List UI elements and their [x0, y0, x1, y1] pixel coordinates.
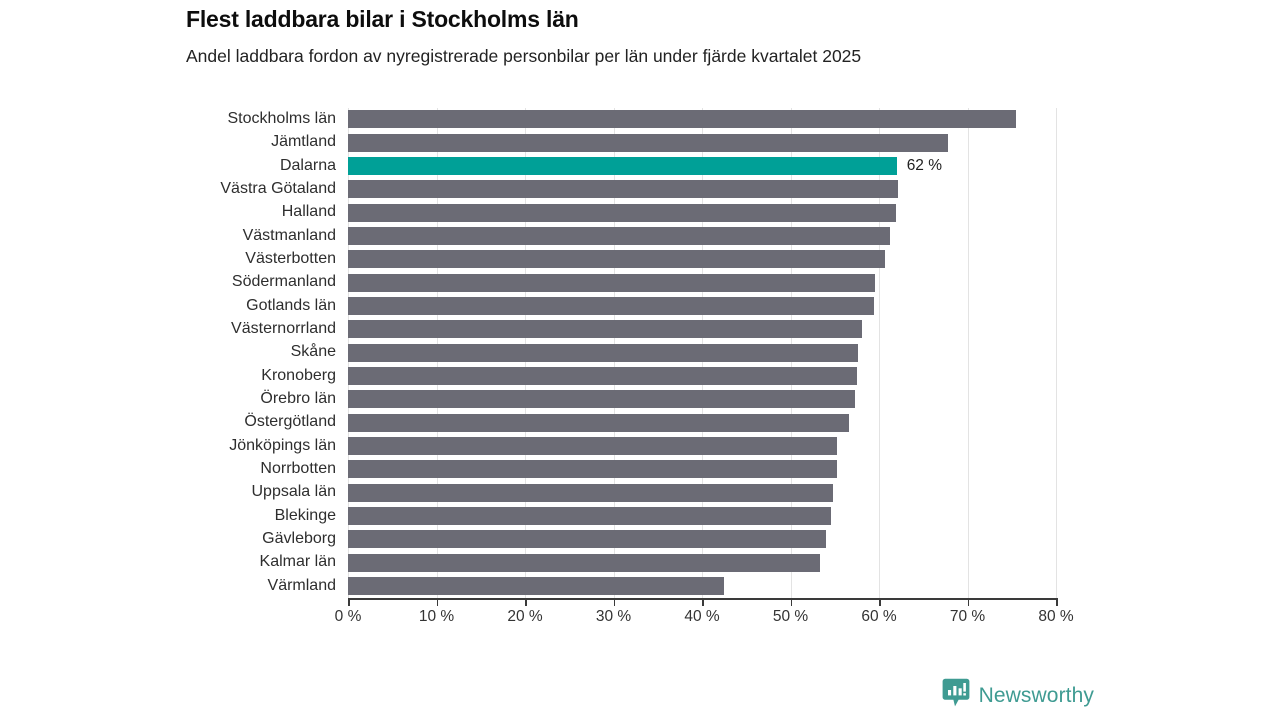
x-axis-tick-mark — [614, 598, 616, 606]
bar-value-label: 62 % — [907, 157, 942, 175]
y-axis-label: Västernorrland — [231, 318, 336, 341]
bar[interactable] — [348, 134, 948, 152]
bar-row[interactable] — [348, 131, 1056, 154]
bar[interactable] — [348, 227, 890, 245]
chart-header: Flest laddbara bilar i Stockholms län An… — [186, 6, 1186, 67]
newsworthy-bar-chart-bubble-icon — [942, 678, 970, 713]
bar-row[interactable] — [348, 108, 1056, 131]
y-axis-label: Gotlands län — [246, 295, 336, 318]
x-axis-tick-label: 10 % — [419, 608, 454, 626]
x-axis-tick-mark — [702, 598, 704, 606]
y-axis-label: Halland — [282, 201, 336, 224]
y-axis-label: Dalarna — [280, 155, 336, 178]
bar[interactable] — [348, 180, 898, 198]
bar[interactable] — [348, 320, 862, 338]
bar-row[interactable] — [348, 411, 1056, 434]
bar[interactable] — [348, 110, 1016, 128]
y-axis-label: Blekinge — [275, 505, 336, 528]
y-axis-label: Norrbotten — [260, 458, 336, 481]
x-axis-tick-mark — [437, 598, 439, 606]
bars-and-axis: 62 % 0 %10 %20 %30 %40 %50 %60 %70 %80 % — [348, 108, 1056, 605]
bar-row[interactable] — [348, 435, 1056, 458]
bar[interactable] — [348, 507, 831, 525]
bar-row[interactable] — [348, 388, 1056, 411]
bar[interactable] — [348, 344, 858, 362]
bar-row[interactable] — [348, 341, 1056, 364]
bar-row[interactable] — [348, 575, 1056, 598]
bar[interactable] — [348, 204, 896, 222]
bar-row[interactable]: 62 % — [348, 155, 1056, 178]
y-axis-label: Värmland — [268, 575, 336, 598]
bar[interactable] — [348, 460, 837, 478]
bar[interactable] — [348, 274, 875, 292]
x-axis-tick-mark — [348, 598, 350, 606]
bar-row[interactable] — [348, 178, 1056, 201]
x-axis-tick-mark — [525, 598, 527, 606]
x-axis-tick-label: 50 % — [773, 608, 808, 626]
bar-row[interactable] — [348, 318, 1056, 341]
y-axis-label: Västerbotten — [245, 248, 336, 271]
bar[interactable] — [348, 530, 826, 548]
x-axis-tick-label: 30 % — [596, 608, 631, 626]
y-axis-label: Gävleborg — [262, 528, 336, 551]
chart-plot-area: Stockholms länJämtlandDalarnaVästra Göta… — [0, 108, 1280, 638]
chart-footer: Newsworthy — [0, 678, 1280, 720]
bar[interactable] — [348, 484, 833, 502]
bar[interactable] — [348, 554, 820, 572]
y-axis-label: Jämtland — [271, 131, 336, 154]
bar-row[interactable] — [348, 225, 1056, 248]
gridline — [1056, 108, 1057, 598]
bar[interactable] — [348, 390, 855, 408]
bar-row[interactable] — [348, 551, 1056, 574]
x-axis-tick-mark — [968, 598, 970, 606]
bar-row[interactable] — [348, 271, 1056, 294]
bar-row[interactable] — [348, 248, 1056, 271]
x-axis-tick-label: 70 % — [950, 608, 985, 626]
y-axis-label: Jönköpings län — [229, 435, 336, 458]
x-axis-tick-mark — [1056, 598, 1058, 606]
x-axis-tick-mark — [791, 598, 793, 606]
y-axis-label: Västra Götaland — [220, 178, 336, 201]
bar[interactable] — [348, 250, 885, 268]
x-axis-tick-mark — [879, 598, 881, 606]
x-axis-tick-label: 60 % — [861, 608, 896, 626]
bar-row[interactable] — [348, 295, 1056, 318]
bar[interactable] — [348, 367, 857, 385]
bar[interactable] — [348, 577, 724, 595]
bar-row[interactable] — [348, 481, 1056, 504]
x-axis-tick-label: 0 % — [335, 608, 362, 626]
y-axis-label: Uppsala län — [252, 481, 337, 504]
y-axis-label: Skåne — [291, 341, 336, 364]
y-axis-label: Stockholms län — [228, 108, 337, 131]
y-axis-label: Kronoberg — [261, 365, 336, 388]
logo-wordmark: Newsworthy — [979, 685, 1094, 706]
bar-row[interactable] — [348, 365, 1056, 388]
bar[interactable] — [348, 414, 849, 432]
bar[interactable] — [348, 437, 837, 455]
bar[interactable] — [348, 297, 874, 315]
x-axis-tick-label: 80 % — [1038, 608, 1073, 626]
y-axis-label: Västmanland — [243, 225, 336, 248]
y-axis-label: Södermanland — [232, 271, 336, 294]
bar-row[interactable] — [348, 201, 1056, 224]
chart-page: Flest laddbara bilar i Stockholms län An… — [0, 0, 1280, 720]
chart-subtitle: Andel laddbara fordon av nyregistrerade … — [186, 46, 1186, 67]
bar-row[interactable] — [348, 528, 1056, 551]
bar[interactable] — [348, 157, 897, 175]
newsworthy-logo[interactable]: Newsworthy — [942, 678, 1094, 713]
y-axis-labels: Stockholms länJämtlandDalarnaVästra Göta… — [150, 108, 344, 605]
page-title: Flest laddbara bilar i Stockholms län — [186, 6, 1186, 32]
x-axis-tick-label: 20 % — [507, 608, 542, 626]
bar-row[interactable] — [348, 505, 1056, 528]
y-axis-label: Kalmar län — [260, 551, 336, 574]
y-axis-label: Östergötland — [244, 411, 336, 434]
y-axis-label: Örebro län — [260, 388, 336, 411]
x-axis-tick-label: 40 % — [684, 608, 719, 626]
bar-row[interactable] — [348, 458, 1056, 481]
